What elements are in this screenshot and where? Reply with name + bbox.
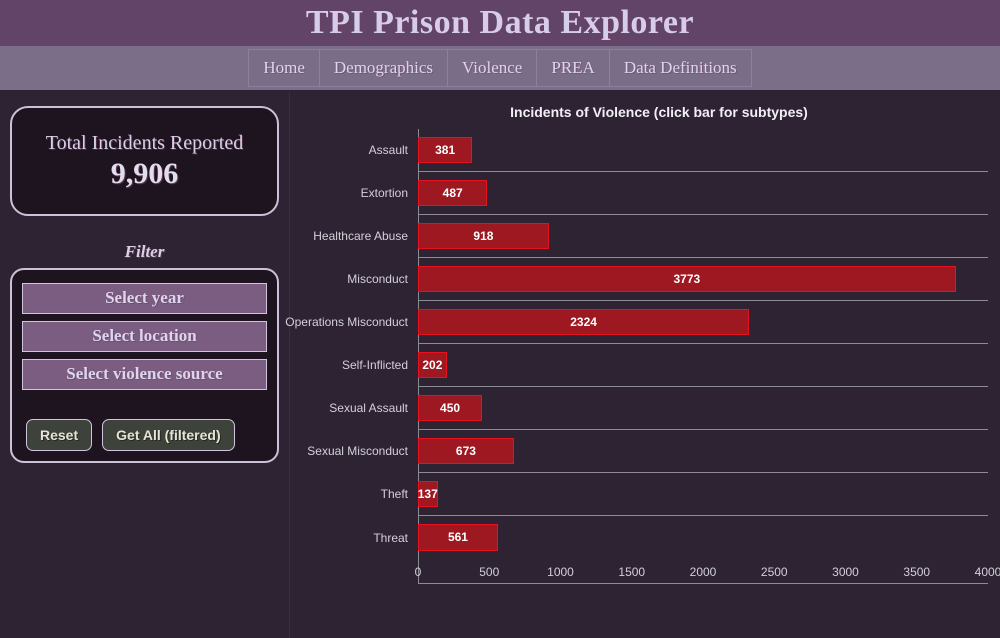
filter-heading: Filter [10, 242, 279, 262]
chart-bar[interactable]: 3773 [418, 266, 956, 293]
bar-row: Sexual Misconduct673 [418, 430, 988, 473]
bar-category-label: Operations Misconduct [285, 315, 408, 329]
x-tick-label: 3500 [903, 565, 930, 579]
bar-category-label: Threat [373, 531, 408, 545]
bar-row: Healthcare Abuse918 [418, 215, 988, 258]
bar-value-label: 2324 [570, 315, 597, 329]
bar-value-label: 450 [440, 401, 460, 415]
bar-value-label: 918 [473, 229, 493, 243]
select-location[interactable]: Select location [22, 321, 267, 352]
reset-button[interactable]: Reset [26, 419, 92, 451]
bar-row: Assault381 [418, 129, 988, 172]
bar-category-label: Sexual Misconduct [307, 444, 408, 458]
bar-value-label: 561 [448, 530, 468, 544]
main-navigation: Home Demographics Violence PREA Data Def… [0, 46, 1000, 92]
content-area: Total Incidents Reported 9,906 Filter Se… [0, 92, 1000, 638]
filter-button-row: Reset Get All (filtered) [12, 397, 277, 451]
chart-bar[interactable]: 673 [418, 438, 514, 465]
total-incidents-card: Total Incidents Reported 9,906 [10, 106, 279, 216]
bar-category-label: Misconduct [347, 272, 408, 286]
x-tick-label: 500 [479, 565, 499, 579]
chart-title: Incidents of Violence (click bar for sub… [318, 104, 1000, 120]
bar-category-label: Sexual Assault [329, 401, 408, 415]
nav-item-prea[interactable]: PREA [536, 49, 608, 87]
bar-category-label: Theft [381, 487, 408, 501]
nav-item-data-definitions[interactable]: Data Definitions [609, 49, 752, 87]
chart-bar[interactable]: 137 [418, 481, 438, 508]
chart-bar[interactable]: 381 [418, 137, 472, 164]
chart-bar[interactable]: 561 [418, 524, 498, 552]
bar-row: Extortion487 [418, 172, 988, 215]
x-tick-label: 1000 [547, 565, 574, 579]
x-tick-label: 2500 [761, 565, 788, 579]
bar-category-label: Healthcare Abuse [313, 229, 408, 243]
bar-value-label: 3773 [673, 272, 700, 286]
total-incidents-label: Total Incidents Reported [46, 132, 243, 155]
filter-panel: Select year Select location Select viole… [10, 268, 279, 463]
bar-value-label: 673 [456, 444, 476, 458]
chart-area: Incidents of Violence (click bar for sub… [290, 92, 1000, 638]
bar-value-label: 137 [418, 487, 438, 501]
get-all-filtered-button[interactable]: Get All (filtered) [102, 419, 235, 451]
nav-item-demographics[interactable]: Demographics [319, 49, 447, 87]
bar-row: Operations Misconduct2324 [418, 301, 988, 344]
x-tick-label: 2000 [690, 565, 717, 579]
total-incidents-value: 9,906 [111, 157, 179, 191]
bar-row: Self-Inflicted202 [418, 344, 988, 387]
chart-bar[interactable]: 202 [418, 352, 447, 379]
title-bar: TPI Prison Data Explorer [0, 0, 1000, 46]
x-axis-ticks: 05001000150020002500300035004000 [418, 560, 988, 584]
nav-item-violence[interactable]: Violence [447, 49, 536, 87]
bar-value-label: 487 [443, 186, 463, 200]
x-tick-label: 0 [415, 565, 422, 579]
x-tick-label: 1500 [618, 565, 645, 579]
bar-category-label: Extortion [361, 186, 408, 200]
chart-plot: Assault381Extortion487Healthcare Abuse91… [418, 129, 988, 584]
select-year[interactable]: Select year [22, 283, 267, 314]
chart-bar[interactable]: 487 [418, 180, 487, 207]
page-title: TPI Prison Data Explorer [306, 4, 694, 42]
chart-bar[interactable]: 2324 [418, 309, 749, 336]
bar-rows: Assault381Extortion487Healthcare Abuse91… [418, 129, 988, 559]
chart-bar[interactable]: 450 [418, 395, 482, 422]
bar-value-label: 202 [422, 358, 442, 372]
bar-category-label: Assault [369, 143, 408, 157]
bar-row: Sexual Assault450 [418, 387, 988, 430]
nav-item-home[interactable]: Home [248, 49, 319, 87]
bar-row: Theft137 [418, 473, 988, 516]
bar-value-label: 381 [435, 143, 455, 157]
bar-row: Misconduct3773 [418, 258, 988, 301]
bar-row: Threat561 [418, 516, 988, 559]
bar-category-label: Self-Inflicted [342, 358, 408, 372]
sidebar: Total Incidents Reported 9,906 Filter Se… [0, 92, 290, 638]
app-root: TPI Prison Data Explorer Home Demographi… [0, 0, 1000, 638]
select-violence-source[interactable]: Select violence source [22, 359, 267, 390]
chart-bar[interactable]: 918 [418, 223, 549, 250]
x-tick-label: 3000 [832, 565, 859, 579]
x-tick-label: 4000 [975, 565, 1000, 579]
